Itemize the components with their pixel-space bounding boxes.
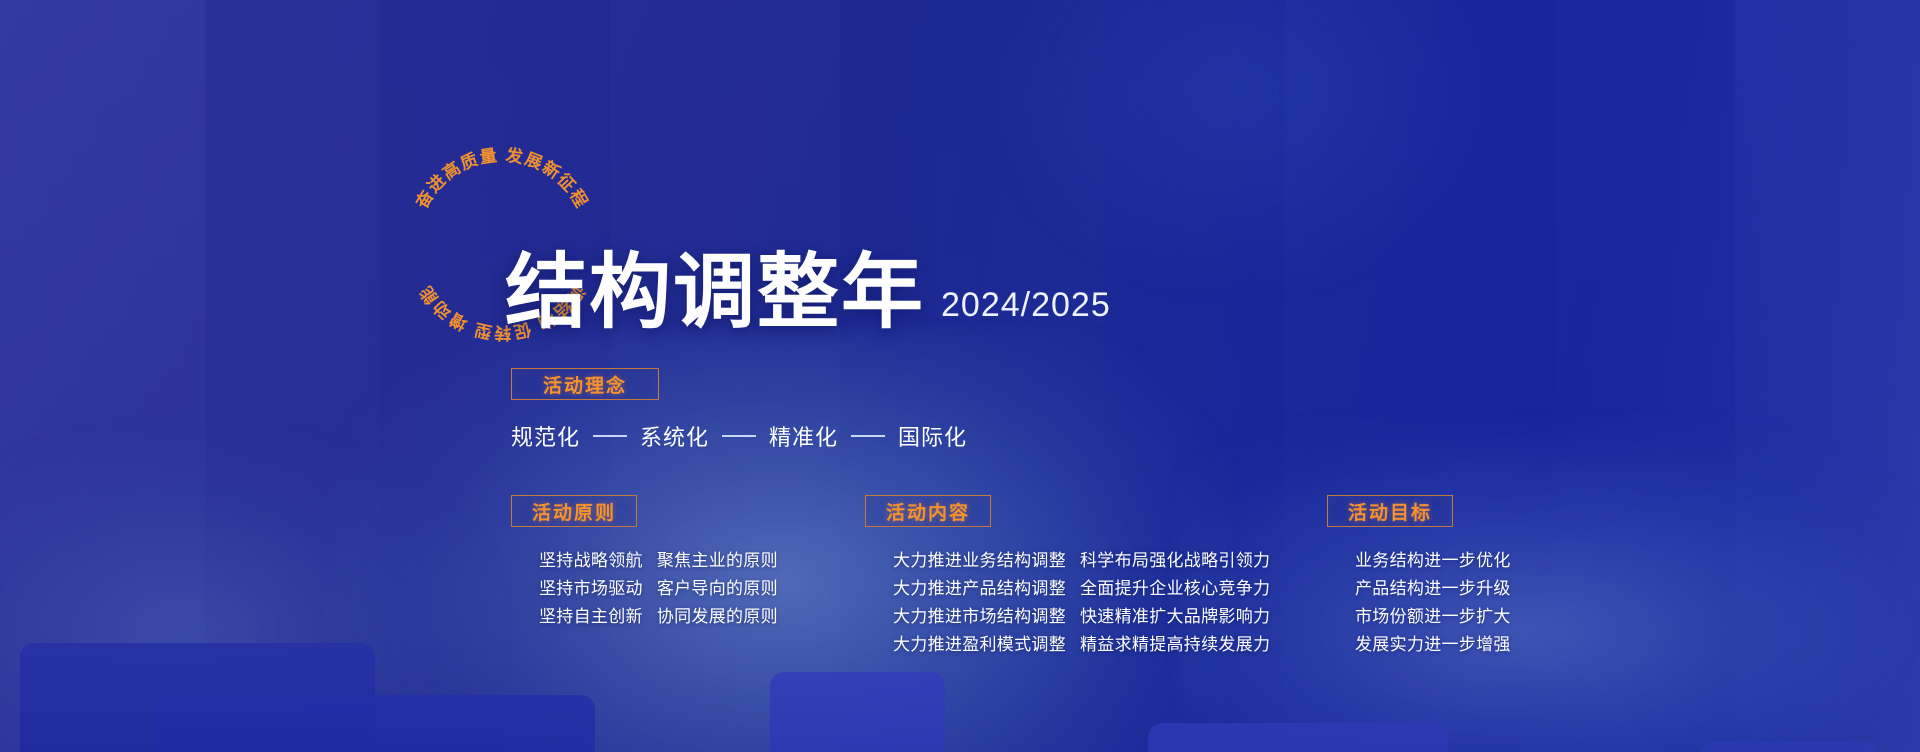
concept-keyword-2: 精准化 bbox=[769, 420, 838, 452]
list-item: 业务结构进一步优化 bbox=[1355, 547, 1511, 575]
emblem-arc-top-text: 奋进高质量 发展新征程 bbox=[411, 145, 592, 213]
row-left-text: 大力推进盈利模式调整 bbox=[893, 631, 1066, 659]
concept-keyword-line: 规范化 系统化 精准化 国际化 bbox=[511, 420, 967, 452]
row-right-text: 快速精准扩大品牌影响力 bbox=[1080, 603, 1270, 631]
list-item: 发展实力进一步增强 bbox=[1355, 631, 1511, 659]
badge-principles: 活动原则 bbox=[511, 495, 637, 527]
row-left-text: 产品结构进一步升级 bbox=[1355, 575, 1511, 603]
title-year-label: 2024/2025 bbox=[941, 286, 1111, 325]
badge-goals-label: 活动目标 bbox=[1348, 498, 1432, 525]
concept-separator-icon bbox=[851, 435, 885, 437]
row-left-text: 坚持市场驱动 bbox=[539, 575, 643, 603]
list-item: 大力推进业务结构调整 科学布局强化战略引领力 bbox=[893, 547, 1270, 575]
row-left-text: 大力推进业务结构调整 bbox=[893, 547, 1066, 575]
row-right-text: 聚焦主业的原则 bbox=[657, 547, 778, 575]
concept-separator-icon bbox=[722, 435, 756, 437]
row-right-text: 精益求精提高持续发展力 bbox=[1080, 631, 1270, 659]
row-right-text: 全面提升企业核心竞争力 bbox=[1080, 575, 1270, 603]
badge-principles-label: 活动原则 bbox=[532, 498, 616, 525]
poster-canvas: 奋进高质量 发展新征程 调结构 促转型 增动能 结构调整年 2024/2025 … bbox=[0, 0, 1920, 752]
badge-concept-label: 活动理念 bbox=[543, 371, 627, 398]
row-left-text: 市场份额进一步扩大 bbox=[1355, 603, 1511, 631]
goals-row-list: 业务结构进一步优化 产品结构进一步升级 市场份额进一步扩大 发展实力进一步增强 bbox=[1355, 547, 1511, 659]
badge-concept: 活动理念 bbox=[511, 368, 659, 400]
list-item: 市场份额进一步扩大 bbox=[1355, 603, 1511, 631]
decor-block bbox=[770, 672, 945, 752]
content-row-list: 大力推进业务结构调整 科学布局强化战略引领力 大力推进产品结构调整 全面提升企业… bbox=[893, 547, 1270, 659]
concept-keyword-1: 系统化 bbox=[640, 420, 709, 452]
row-left-text: 坚持战略领航 bbox=[539, 547, 643, 575]
row-left-text: 坚持自主创新 bbox=[539, 603, 643, 631]
list-item: 坚持战略领航 聚焦主业的原则 bbox=[539, 547, 778, 575]
list-item: 大力推进盈利模式调整 精益求精提高持续发展力 bbox=[893, 631, 1270, 659]
row-left-text: 发展实力进一步增强 bbox=[1355, 631, 1511, 659]
row-left-text: 业务结构进一步优化 bbox=[1355, 547, 1511, 575]
row-left-text: 大力推进产品结构调整 bbox=[893, 575, 1066, 603]
badge-content-label: 活动内容 bbox=[886, 498, 970, 525]
list-item: 产品结构进一步升级 bbox=[1355, 575, 1511, 603]
row-right-text: 客户导向的原则 bbox=[657, 575, 778, 603]
badge-goals: 活动目标 bbox=[1327, 495, 1453, 527]
list-item: 坚持自主创新 协同发展的原则 bbox=[539, 603, 778, 631]
background-glow-right bbox=[1180, 420, 1920, 752]
badge-content: 活动内容 bbox=[865, 495, 991, 527]
page-title: 结构调整年 bbox=[505, 252, 925, 334]
concept-keyword-0: 规范化 bbox=[511, 420, 580, 452]
row-right-text: 科学布局强化战略引领力 bbox=[1080, 547, 1270, 575]
decor-block bbox=[1148, 723, 1448, 752]
decor-block bbox=[155, 695, 595, 752]
principles-row-list: 坚持战略领航 聚焦主业的原则 坚持市场驱动 客户导向的原则 坚持自主创新 协同发… bbox=[539, 547, 778, 631]
list-item: 坚持市场驱动 客户导向的原则 bbox=[539, 575, 778, 603]
row-left-text: 大力推进市场结构调整 bbox=[893, 603, 1066, 631]
row-right-text: 协同发展的原则 bbox=[657, 603, 778, 631]
list-item: 大力推进产品结构调整 全面提升企业核心竞争力 bbox=[893, 575, 1270, 603]
title-row: 结构调整年 2024/2025 bbox=[505, 252, 1111, 334]
concept-separator-icon bbox=[593, 435, 627, 437]
decor-block bbox=[1700, 742, 1880, 752]
concept-keyword-3: 国际化 bbox=[898, 420, 967, 452]
list-item: 大力推进市场结构调整 快速精准扩大品牌影响力 bbox=[893, 603, 1270, 631]
